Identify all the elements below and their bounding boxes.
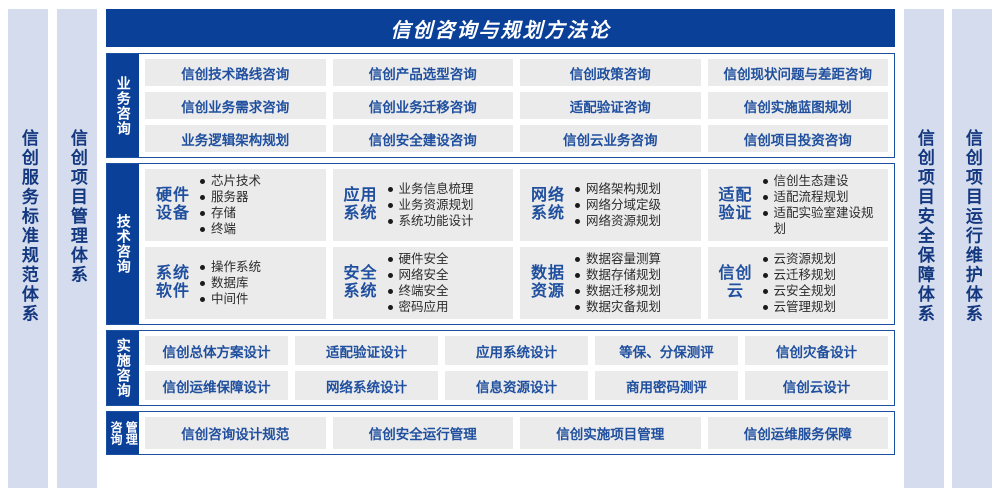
- tech-item: 云安全规划: [762, 283, 883, 299]
- tech-item: 数据灾备规划: [574, 299, 695, 315]
- tech-item: 终端安全: [387, 283, 508, 299]
- tech-item: 终端: [199, 221, 320, 237]
- band-label-implementation-text: 实施咨询: [115, 338, 130, 398]
- business-row-3: 业务逻辑架构规划 信创安全建设咨询 信创云业务咨询 信创项目投资咨询: [145, 125, 888, 152]
- diagram-root: 信创服务标准规范体系 信创项目管理体系 信创咨询与规划方法论 业务咨询 信创技术…: [0, 0, 1000, 496]
- band-body-implementation: 信创总体方案设计 适配验证设计 应用系统设计 等保、分保测评 信创灾备设计 信创…: [139, 331, 894, 405]
- cell-business[interactable]: 信创技术路线咨询: [145, 59, 326, 86]
- cell-management[interactable]: 信创实施项目管理: [520, 417, 701, 449]
- tech-cell-system-software[interactable]: 系统 软件 操作系统 数据库 中间件: [145, 247, 326, 319]
- tech-item: 存储: [199, 205, 320, 221]
- band-label-technical: 技术咨询: [107, 164, 139, 324]
- band-label-implementation: 实施咨询: [107, 331, 139, 405]
- tech-item: 网络架构规划: [574, 181, 695, 197]
- cell-management[interactable]: 信创咨询设计规范: [145, 417, 326, 449]
- tech-cell-data-resource-title: 数据 资源: [528, 265, 568, 302]
- center-stack: 信创咨询与规划方法论 业务咨询 信创技术路线咨询 信创产品选型咨询 信创政策咨询…: [106, 9, 895, 488]
- implementation-row-1: 信创总体方案设计 适配验证设计 应用系统设计 等保、分保测评 信创灾备设计: [145, 336, 888, 365]
- pillar-right-project-operations: 信创项目运行维护体系: [952, 9, 992, 488]
- cell-business[interactable]: 适配验证咨询: [520, 92, 701, 119]
- tech-cell-adaptation-verification-title: 适配 验证: [716, 187, 756, 224]
- tech-item: 信创生态建设: [762, 173, 883, 189]
- band-body-technical: 硬件 设备 芯片技术 服务器 存储 终端 应用 系统 业务信息梳理 业务资源规划: [139, 164, 894, 324]
- cell-business[interactable]: 信创安全建设咨询: [333, 125, 514, 152]
- cell-implementation[interactable]: 信创云设计: [745, 371, 888, 400]
- band-label-management-text-1: 咨询: [109, 421, 122, 445]
- management-row-1: 信创咨询设计规范 信创安全运行管理 信创实施项目管理 信创运维服务保障: [145, 417, 888, 449]
- band-label-business: 业务咨询: [107, 54, 139, 157]
- tech-item: 密码应用: [387, 299, 508, 315]
- tech-item: 数据迁移规划: [574, 283, 695, 299]
- tech-item: 网络安全: [387, 267, 508, 283]
- cell-business[interactable]: 信创实施蓝图规划: [708, 92, 889, 119]
- tech-item: 适配流程规划: [762, 189, 883, 205]
- tech-cell-hardware-items: 芯片技术 服务器 存储 终端: [199, 173, 320, 237]
- technical-row-2: 系统 软件 操作系统 数据库 中间件 安全 系统 硬件安全 网络安全 终端安全: [145, 247, 888, 319]
- pillar-right-project-security: 信创项目安全保障体系: [904, 9, 944, 488]
- cell-implementation[interactable]: 商用密码测评: [595, 371, 738, 400]
- cell-business[interactable]: 信创产品选型咨询: [333, 59, 514, 86]
- band-label-business-text: 业务咨询: [115, 76, 130, 136]
- pillar-left-project-management-label: 信创项目管理体系: [68, 129, 86, 285]
- tech-cell-hardware-title: 硬件 设备: [153, 187, 193, 224]
- cell-implementation[interactable]: 信创运维保障设计: [145, 371, 288, 400]
- tech-item: 业务资源规划: [387, 197, 508, 213]
- tech-item: 网络分域定级: [574, 197, 695, 213]
- tech-item: 适配实验室建设规划: [762, 205, 883, 237]
- band-label-management: 咨询 管理: [107, 412, 139, 454]
- band-consulting-management: 咨询 管理 信创咨询设计规范 信创安全运行管理 信创实施项目管理 信创运维服务保…: [106, 411, 895, 455]
- business-row-1: 信创技术路线咨询 信创产品选型咨询 信创政策咨询 信创现状问题与差距咨询: [145, 59, 888, 86]
- cell-implementation[interactable]: 应用系统设计: [445, 336, 588, 365]
- cell-business[interactable]: 信创政策咨询: [520, 59, 701, 86]
- tech-cell-application-system[interactable]: 应用 系统 业务信息梳理 业务资源规划 系统功能设计: [333, 169, 514, 241]
- tech-cell-data-resource-items: 数据容量测算 数据存储规划 数据迁移规划 数据灾备规划: [574, 251, 695, 315]
- cell-business[interactable]: 业务逻辑架构规划: [145, 125, 326, 152]
- cell-management[interactable]: 信创运维服务保障: [708, 417, 889, 449]
- cell-business[interactable]: 信创业务需求咨询: [145, 92, 326, 119]
- tech-cell-xinchuang-cloud-title: 信创 云: [716, 265, 756, 302]
- tech-item: 数据库: [199, 275, 320, 291]
- tech-item: 云资源规划: [762, 251, 883, 267]
- tech-item: 芯片技术: [199, 173, 320, 189]
- band-implementation-consulting: 实施咨询 信创总体方案设计 适配验证设计 应用系统设计 等保、分保测评 信创灾备…: [106, 330, 895, 406]
- cell-business[interactable]: 信创业务迁移咨询: [333, 92, 514, 119]
- tech-item: 服务器: [199, 189, 320, 205]
- cell-implementation[interactable]: 等保、分保测评: [595, 336, 738, 365]
- tech-cell-xinchuang-cloud[interactable]: 信创 云 云资源规划 云迁移规划 云安全规划 云管理规划: [708, 247, 889, 319]
- tech-item: 操作系统: [199, 259, 320, 275]
- tech-cell-xinchuang-cloud-items: 云资源规划 云迁移规划 云安全规划 云管理规划: [762, 251, 883, 315]
- pillar-left-project-management: 信创项目管理体系: [57, 9, 97, 488]
- technical-row-1: 硬件 设备 芯片技术 服务器 存储 终端 应用 系统 业务信息梳理 业务资源规划: [145, 169, 888, 241]
- tech-item: 云迁移规划: [762, 267, 883, 283]
- band-body-business: 信创技术路线咨询 信创产品选型咨询 信创政策咨询 信创现状问题与差距咨询 信创业…: [139, 54, 894, 157]
- cell-implementation[interactable]: 信息资源设计: [445, 371, 588, 400]
- tech-cell-hardware[interactable]: 硬件 设备 芯片技术 服务器 存储 终端: [145, 169, 326, 241]
- tech-cell-adaptation-verification[interactable]: 适配 验证 信创生态建设 适配流程规划 适配实验室建设规划: [708, 169, 889, 241]
- tech-cell-network-system-title: 网络 系统: [528, 187, 568, 224]
- implementation-row-2: 信创运维保障设计 网络系统设计 信息资源设计 商用密码测评 信创云设计: [145, 371, 888, 400]
- tech-item: 系统功能设计: [387, 213, 508, 229]
- pillar-left-service-standard: 信创服务标准规范体系: [8, 9, 48, 488]
- tech-item: 中间件: [199, 291, 320, 307]
- band-technical-consulting: 技术咨询 硬件 设备 芯片技术 服务器 存储 终端 应用 系统: [106, 163, 895, 325]
- tech-item: 硬件安全: [387, 251, 508, 267]
- cell-implementation[interactable]: 网络系统设计: [295, 371, 438, 400]
- cell-business[interactable]: 信创项目投资咨询: [708, 125, 889, 152]
- tech-cell-security-system-items: 硬件安全 网络安全 终端安全 密码应用: [387, 251, 508, 315]
- page-title: 信创咨询与规划方法论: [106, 9, 895, 47]
- pillar-right-project-security-label: 信创项目安全保障体系: [915, 129, 933, 324]
- band-body-management: 信创咨询设计规范 信创安全运行管理 信创实施项目管理 信创运维服务保障: [139, 412, 894, 454]
- cell-business[interactable]: 信创现状问题与差距咨询: [708, 59, 889, 86]
- tech-item: 业务信息梳理: [387, 181, 508, 197]
- tech-cell-network-system[interactable]: 网络 系统 网络架构规划 网络分域定级 网络资源规划: [520, 169, 701, 241]
- tech-cell-application-system-items: 业务信息梳理 业务资源规划 系统功能设计: [387, 181, 508, 229]
- cell-business[interactable]: 信创云业务咨询: [520, 125, 701, 152]
- tech-cell-data-resource[interactable]: 数据 资源 数据容量测算 数据存储规划 数据迁移规划 数据灾备规划: [520, 247, 701, 319]
- cell-implementation[interactable]: 信创总体方案设计: [145, 336, 288, 365]
- band-label-technical-text: 技术咨询: [115, 214, 130, 274]
- business-row-2: 信创业务需求咨询 信创业务迁移咨询 适配验证咨询 信创实施蓝图规划: [145, 92, 888, 119]
- tech-cell-adaptation-verification-items: 信创生态建设 适配流程规划 适配实验室建设规划: [762, 173, 883, 237]
- tech-cell-system-software-items: 操作系统 数据库 中间件: [199, 259, 320, 307]
- tech-cell-network-system-items: 网络架构规划 网络分域定级 网络资源规划: [574, 181, 695, 229]
- cell-implementation[interactable]: 信创灾备设计: [745, 336, 888, 365]
- tech-item: 数据存储规划: [574, 267, 695, 283]
- tech-cell-system-software-title: 系统 软件: [153, 265, 193, 302]
- cell-management[interactable]: 信创安全运行管理: [333, 417, 514, 449]
- tech-cell-security-system-title: 安全 系统: [341, 265, 381, 302]
- pillar-left-service-standard-label: 信创服务标准规范体系: [19, 129, 37, 324]
- tech-cell-security-system[interactable]: 安全 系统 硬件安全 网络安全 终端安全 密码应用: [333, 247, 514, 319]
- band-label-management-text-2: 管理: [124, 421, 137, 445]
- tech-item: 网络资源规划: [574, 213, 695, 229]
- tech-item: 数据容量测算: [574, 251, 695, 267]
- cell-implementation[interactable]: 适配验证设计: [295, 336, 438, 365]
- pillar-right-project-operations-label: 信创项目运行维护体系: [963, 129, 981, 324]
- band-business-consulting: 业务咨询 信创技术路线咨询 信创产品选型咨询 信创政策咨询 信创现状问题与差距咨…: [106, 53, 895, 158]
- tech-item: 云管理规划: [762, 299, 883, 315]
- tech-cell-application-system-title: 应用 系统: [341, 187, 381, 224]
